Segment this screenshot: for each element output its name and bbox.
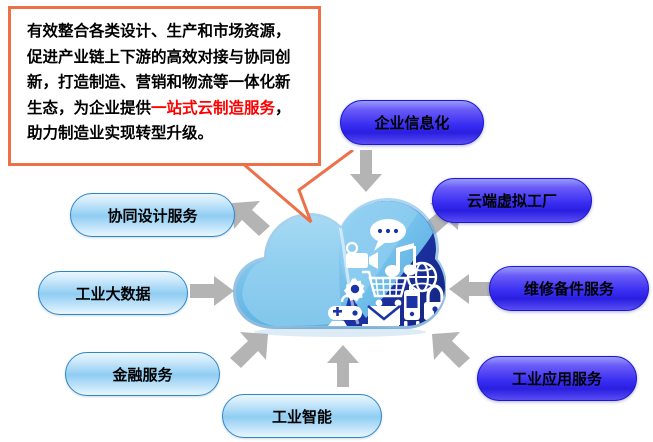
callout-text: 有效整合各类设计、生产和市场资源， 促进产业链上下游的高效对接与协同创 新，打造… <box>27 19 309 147</box>
node-label: 工业应用服务 <box>512 368 602 389</box>
node-enterprise-informatization[interactable]: 企业信息化 <box>340 100 484 145</box>
callout-line-2: 促进产业链上下游的高效对接与协同创 <box>27 45 309 71</box>
node-label: 企业信息化 <box>374 112 449 133</box>
callout-line-3: 新，打造制造、营销和物流等一体化新 <box>27 70 309 96</box>
calendar-day: 1 <box>407 333 417 351</box>
node-financial-service[interactable]: 金融服务 <box>65 352 220 396</box>
node-label: 维修备件服务 <box>524 278 614 299</box>
download-icon <box>421 320 445 353</box>
node-label: 云端虚拟工厂 <box>467 190 557 211</box>
diagram-canvas: 1 <box>0 0 653 442</box>
callout-line-4: 生态，为企业提供一站式云制造服务， <box>27 96 309 122</box>
callout-line-4-pre: 生态，为企业提供 <box>27 99 151 117</box>
node-cloud-virtual-factory[interactable]: 云端虚拟工厂 <box>432 178 592 223</box>
node-industrial-big-data[interactable]: 工业大数据 <box>38 271 188 315</box>
node-label: 协同设计服务 <box>107 205 197 226</box>
callout-line-5: 助力制造业实现转型升级。 <box>27 121 309 147</box>
callout-box: 有效整合各类设计、生产和市场资源， 促进产业链上下游的高效对接与协同创 新，打造… <box>8 6 321 166</box>
cloud-shadow <box>254 327 426 337</box>
envelope-icon <box>368 306 400 328</box>
callout-line-4-post: ， <box>275 99 291 117</box>
node-label: 金融服务 <box>112 364 172 385</box>
node-collaborative-design[interactable]: 协同设计服务 <box>70 193 235 237</box>
arrow-maintenance-spare-parts <box>449 273 493 305</box>
node-label: 工业大数据 <box>75 283 150 304</box>
node-maintenance-spare-parts[interactable]: 维修备件服务 <box>489 266 649 311</box>
callout-line-1: 有效整合各类设计、生产和市场资源， <box>27 19 309 45</box>
node-industrial-application[interactable]: 工业应用服务 <box>477 356 637 401</box>
node-industrial-intelligence[interactable]: 工业智能 <box>222 394 382 438</box>
mobile-phone-icon <box>404 286 420 320</box>
node-label: 工业智能 <box>272 406 332 427</box>
callout-highlight: 一站式云制造服务 <box>151 99 275 117</box>
